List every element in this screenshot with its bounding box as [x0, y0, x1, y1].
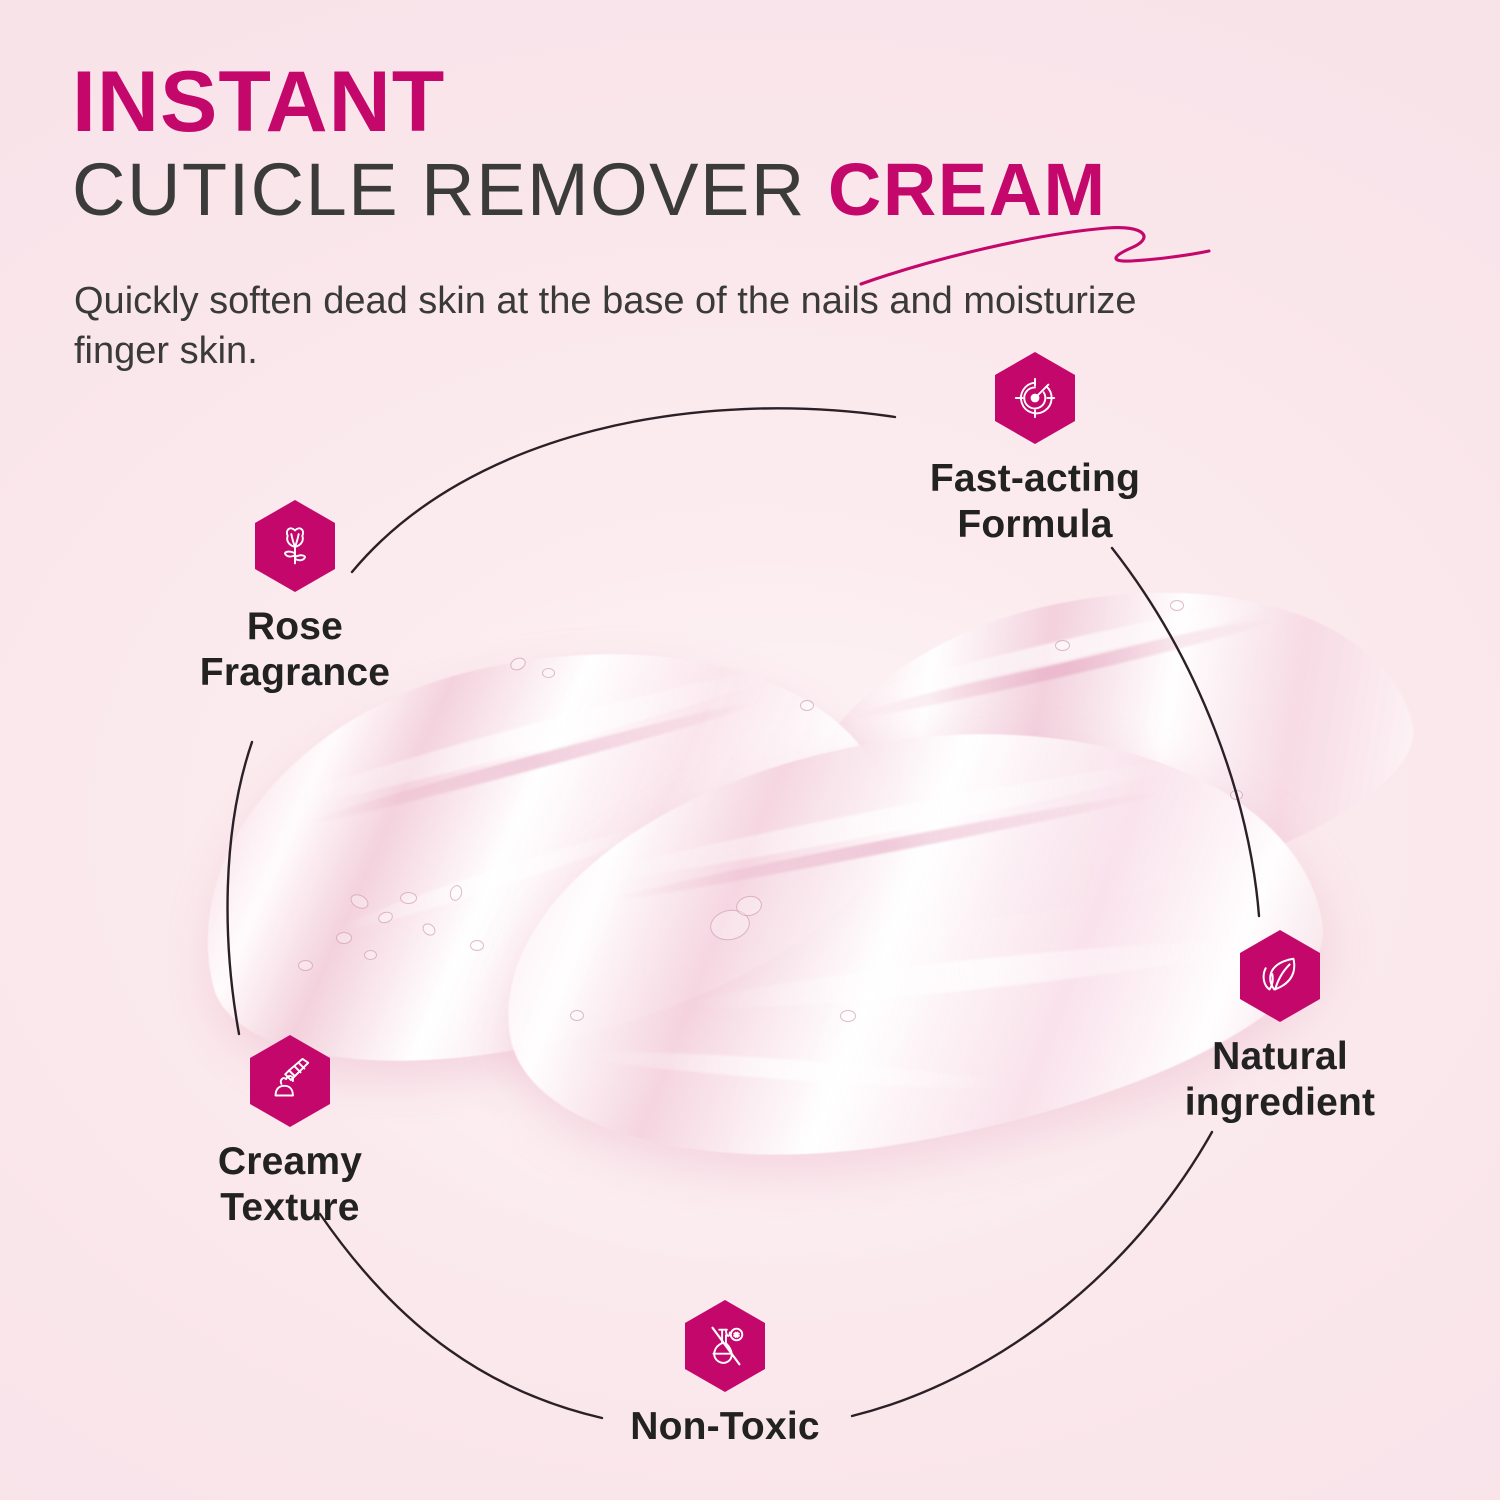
gel-bubble — [336, 932, 352, 944]
gel-bubble — [840, 1010, 856, 1022]
feature-label-fast-acting: Fast-acting Formula — [905, 456, 1165, 548]
gel-bubble — [1055, 640, 1070, 651]
cream-piping-icon — [266, 1057, 314, 1105]
feature-creamy-texture[interactable]: Creamy Texture — [165, 1035, 415, 1231]
target-icon — [1012, 375, 1058, 421]
gel-bubble — [298, 960, 313, 971]
title-line-2-plain: CUTICLE REMOVER — [72, 148, 828, 231]
gel-bubble — [800, 700, 814, 711]
leaf-icon — [1257, 953, 1303, 999]
feature-label-natural: Natural ingredient — [1140, 1034, 1420, 1126]
title-line-2: CUTICLE REMOVER CREAM — [72, 150, 1322, 230]
gel-bubble — [470, 940, 484, 951]
gel-bubble — [1170, 600, 1184, 611]
gel-bubble — [570, 1010, 584, 1021]
gel-bubble — [400, 892, 417, 904]
feature-label-non-toxic: Non-Toxic — [570, 1404, 880, 1450]
title-line-2-accent: CREAM — [828, 148, 1107, 231]
feature-fast-acting[interactable]: Fast-acting Formula — [905, 352, 1165, 548]
headline-block: INSTANT CUTICLE REMOVER CREAM — [72, 60, 1322, 230]
no-flask-icon — [701, 1322, 749, 1370]
hex-badge-rose[interactable] — [255, 500, 335, 592]
hex-badge-natural[interactable] — [1240, 930, 1320, 1022]
title-line-1: INSTANT — [72, 60, 1322, 144]
feature-label-rose: Rose Fragrance — [155, 604, 435, 696]
hex-badge-non-toxic[interactable] — [685, 1300, 765, 1392]
hex-badge-creamy[interactable] — [250, 1035, 330, 1127]
gel-bubble — [1230, 790, 1243, 800]
rose-icon — [273, 523, 317, 569]
gel-bubble — [364, 950, 377, 960]
feature-label-creamy: Creamy Texture — [165, 1139, 415, 1231]
hex-badge-fast-acting[interactable] — [995, 352, 1075, 444]
feature-natural-ingredient[interactable]: Natural ingredient — [1140, 930, 1420, 1126]
feature-non-toxic[interactable]: Non-Toxic — [570, 1300, 880, 1450]
feature-rose-fragrance[interactable]: Rose Fragrance — [155, 500, 435, 696]
infographic-canvas: INSTANT CUTICLE REMOVER CREAM Quickly so… — [0, 0, 1500, 1500]
gel-bubble — [542, 668, 555, 678]
